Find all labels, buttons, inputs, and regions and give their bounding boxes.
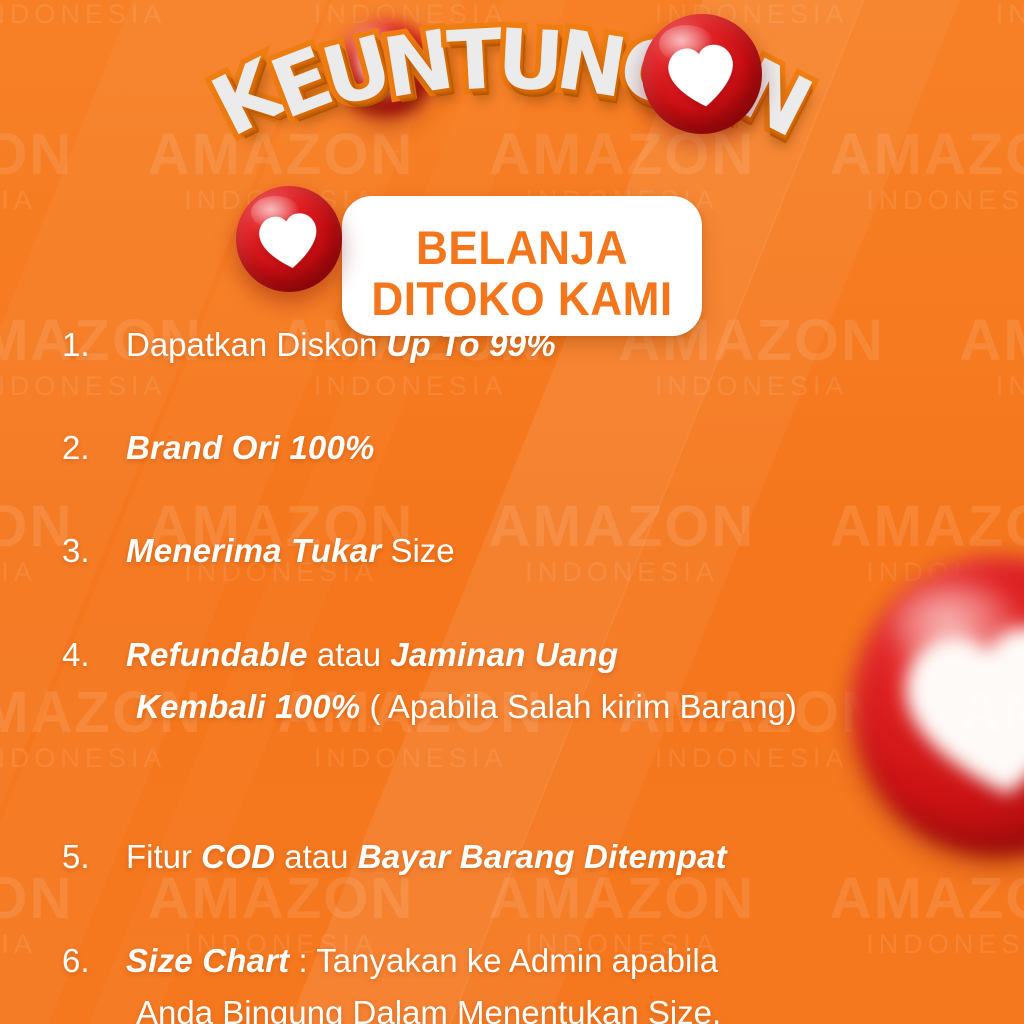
benefit-list: 1.Dapatkan Diskon Up To 99%2.Brand Ori 1… <box>0 326 1024 786</box>
body-text: : Tanyakan ke Admin apabila <box>289 942 718 979</box>
list-item-number: 6. <box>62 942 126 980</box>
list-item-number: 3. <box>62 532 126 570</box>
list-item-line: Size Chart : Tanyakan ke Admin apabila <box>126 942 1024 980</box>
heart-icon <box>254 206 324 276</box>
promo-poster: AMAZONINDONESIAAMAZONINDONESIAAMAZONINDO… <box>0 0 1024 1024</box>
title-card: BELANJA DITOKO KAMI <box>342 196 702 336</box>
emphasis-text: COD <box>201 838 275 875</box>
emphasis-text: Refundable <box>126 636 308 673</box>
list-item-line: Kembali 100% ( Apabila Salah kirim Baran… <box>126 688 1024 726</box>
body-text: ( Apabila Salah kirim Barang) <box>360 688 797 725</box>
watermark-tile: AMAZONINDONESIA <box>922 0 1024 28</box>
list-item: 4.Refundable atau Jaminan UangKembali 10… <box>0 636 1024 726</box>
body-text: Dapatkan Diskon <box>126 326 386 363</box>
list-item: 2.Brand Ori 100% <box>0 429 1024 467</box>
body-text: Size <box>381 532 454 569</box>
body-text: Anda Bingung Dalam Menentukan Size. <box>136 994 721 1024</box>
watermark-main-text: AMAZON <box>452 870 793 928</box>
watermark-main-text: AMAZON <box>111 870 452 928</box>
list-item: 1.Dapatkan Diskon Up To 99% <box>0 326 1024 364</box>
watermark-main-text: AMAZON <box>793 870 1024 928</box>
list-item-number: 5. <box>62 838 126 876</box>
body-text: atau <box>308 636 391 673</box>
heart-icon <box>662 37 741 116</box>
list-item-line: Dapatkan Diskon Up To 99% <box>126 326 1024 364</box>
title-block: BELANJA DITOKO KAMI KEUNTUNGAN <box>0 58 1024 298</box>
emphasis-text: Up To 99% <box>386 326 555 363</box>
emphasis-text: Brand Ori 100% <box>126 429 375 466</box>
watermark-sub-text: INDONESIA <box>0 1 240 28</box>
watermark-main-text: AMAZON <box>0 870 111 928</box>
list-item-line: Fitur COD atau Bayar Barang Ditempat <box>126 838 1024 876</box>
title-card-line-1: BELANJA <box>353 224 691 271</box>
emphasis-text: Jaminan Uang <box>390 636 618 673</box>
list-item-line: Anda Bingung Dalam Menentukan Size. <box>126 994 1024 1024</box>
emphasis-text: Bayar Barang Ditempat <box>358 838 727 875</box>
watermark-tile: AMAZONINDONESIA <box>0 0 240 28</box>
list-item: 5.Fitur COD atau Bayar Barang Ditempat <box>0 838 1024 876</box>
watermark-sub-text: INDONESIA <box>922 1 1024 28</box>
heart-balloon-icon <box>236 186 342 292</box>
list-item-number: 1. <box>62 326 126 364</box>
body-text: Fitur <box>126 838 201 875</box>
title-card-line-2: DITOKO KAMI <box>353 275 691 322</box>
list-item: 3.Menerima Tukar Size <box>0 532 1024 570</box>
body-text: atau <box>275 838 358 875</box>
heart-balloon-icon <box>642 14 762 134</box>
emphasis-text: Size Chart <box>126 942 289 979</box>
list-item: 6.Size Chart : Tanyakan ke Admin apabila… <box>0 942 1024 1024</box>
list-item-number: 2. <box>62 429 126 467</box>
list-item-line: Brand Ori 100% <box>126 429 1024 467</box>
list-item-number: 4. <box>62 636 126 674</box>
emphasis-text: Kembali 100% <box>136 688 360 725</box>
list-item-line: Menerima Tukar Size <box>126 532 1024 570</box>
emphasis-text: Menerima Tukar <box>126 532 381 569</box>
list-item-line: Refundable atau Jaminan Uang <box>126 636 1024 674</box>
